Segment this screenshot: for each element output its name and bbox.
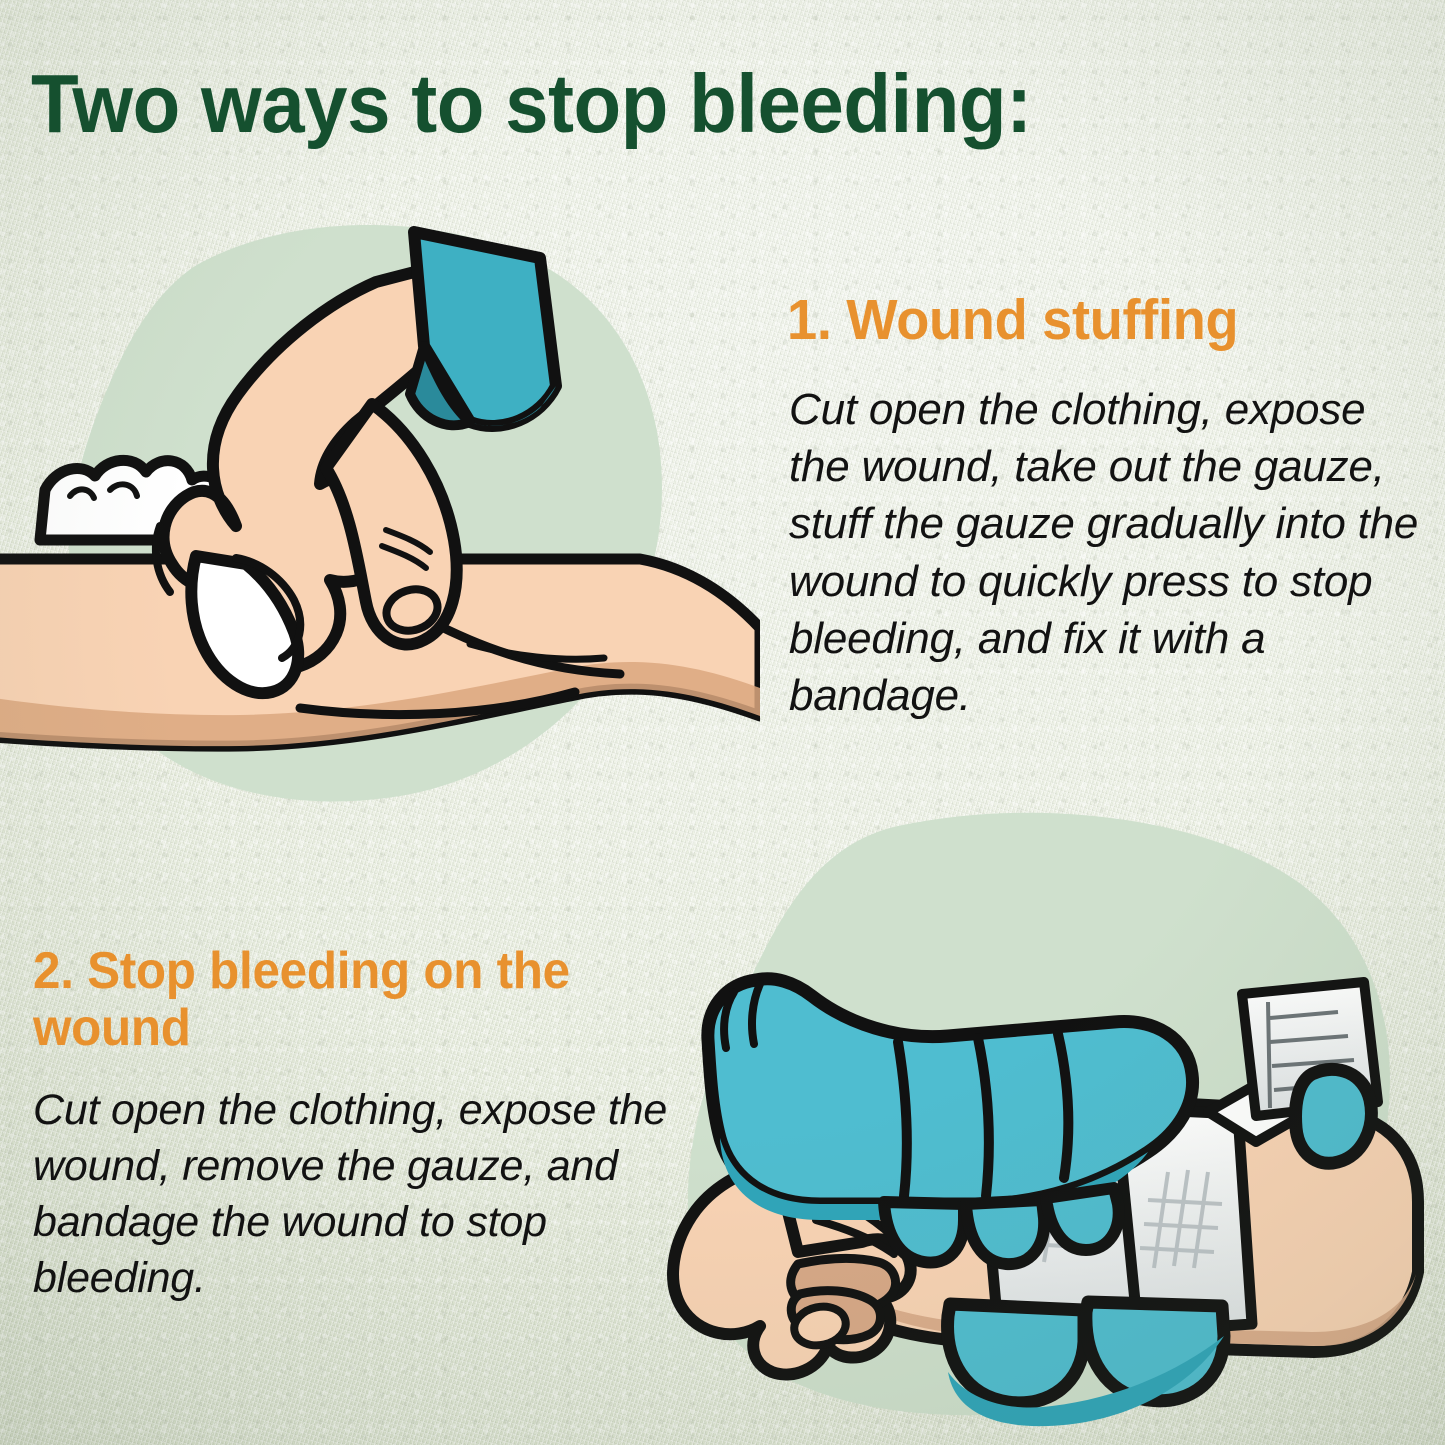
infographic-poster: Two ways to stop bleeding: 1. Wound stuf… [0, 0, 1445, 1445]
section-1-heading: 1. Wound stuffing [787, 291, 1238, 351]
section-1-body: Cut open the clothing, expose the wound,… [789, 381, 1421, 724]
page-title: Two ways to stop bleeding: [31, 62, 1159, 145]
glove-thumb-right [1296, 1069, 1372, 1163]
glove-lower-finger-1 [948, 1304, 1084, 1403]
glove-fingertip-3 [1046, 1188, 1119, 1250]
hand-stuffing-gauze-into-wound-illustration [0, 196, 760, 846]
gloved-hands-bandaging-forearm-illustration [648, 812, 1445, 1445]
section-2-body: Cut open the clothing, expose the wound,… [33, 1083, 677, 1307]
section-2-heading: 2. Stop bleeding on the wound [33, 943, 641, 1057]
glove-fingertip-2 [966, 1200, 1044, 1264]
